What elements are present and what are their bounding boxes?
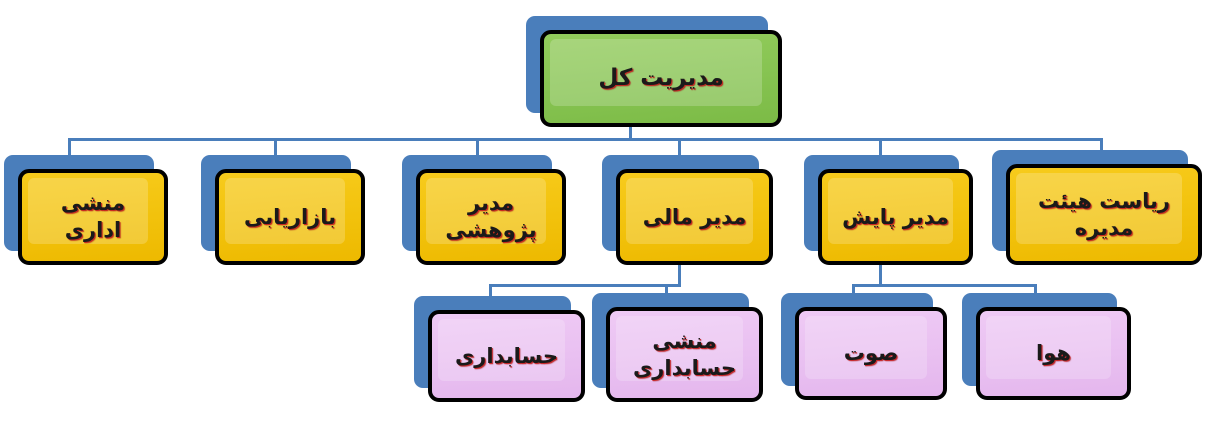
node-monshi-edari[interactable]: منشی اداری	[18, 169, 168, 265]
node-modir-pajuheshi[interactable]: مدیر پژوهشی	[416, 169, 566, 265]
node-hava[interactable]: هوا	[976, 307, 1131, 400]
node-hesabdari[interactable]: حسابداری	[428, 310, 585, 402]
node-label: منشی حسابداری	[633, 328, 736, 382]
node-card: مدیر مالی	[616, 169, 773, 265]
node-card: مدیر پژوهشی	[416, 169, 566, 265]
node-label: صوت	[844, 340, 899, 367]
node-card: ریاست هیئت مدیره	[1006, 164, 1202, 265]
org-chart: مدیریت کل منشی اداری بازاریابی مدیر پژوه…	[0, 0, 1223, 426]
node-label: منشی اداری	[61, 190, 125, 244]
node-monshi-hesabdari[interactable]: منشی حسابداری	[606, 307, 763, 402]
node-card: مدیر پایش	[818, 169, 973, 265]
connector-bus-modir-mali	[489, 284, 681, 287]
node-root-modiriat-kol[interactable]: مدیریت کل	[540, 30, 782, 127]
connector-level2-bus	[68, 138, 1103, 141]
node-card: منشی حسابداری	[606, 307, 763, 402]
node-label: مدیر مالی	[643, 204, 746, 231]
connector-bus-modir-payesh	[852, 284, 1037, 287]
node-card: بازاریابی	[215, 169, 365, 265]
node-label: ریاست هیئت مدیره	[1038, 188, 1170, 242]
node-card: صوت	[795, 307, 947, 400]
node-label: مدیریت کل	[598, 64, 723, 93]
node-card: حسابداری	[428, 310, 585, 402]
connector-stem-modir-mali	[678, 264, 681, 286]
node-label: حسابداری	[455, 343, 558, 370]
node-card: هوا	[976, 307, 1131, 400]
node-bazaryabi[interactable]: بازاریابی	[215, 169, 365, 265]
node-sot[interactable]: صوت	[795, 307, 947, 400]
node-riasat-heyat-modire[interactable]: ریاست هیئت مدیره	[1006, 164, 1202, 265]
node-modir-mali[interactable]: مدیر مالی	[616, 169, 773, 265]
node-label: مدیر پژوهشی	[445, 190, 536, 244]
node-card: منشی اداری	[18, 169, 168, 265]
node-label: هوا	[1036, 340, 1071, 367]
connector-stem-modir-payesh	[879, 264, 882, 286]
node-card: مدیریت کل	[540, 30, 782, 127]
node-label: مدیر پایش	[842, 204, 949, 231]
node-modir-payesh[interactable]: مدیر پایش	[818, 169, 973, 265]
node-label: بازاریابی	[244, 204, 336, 231]
